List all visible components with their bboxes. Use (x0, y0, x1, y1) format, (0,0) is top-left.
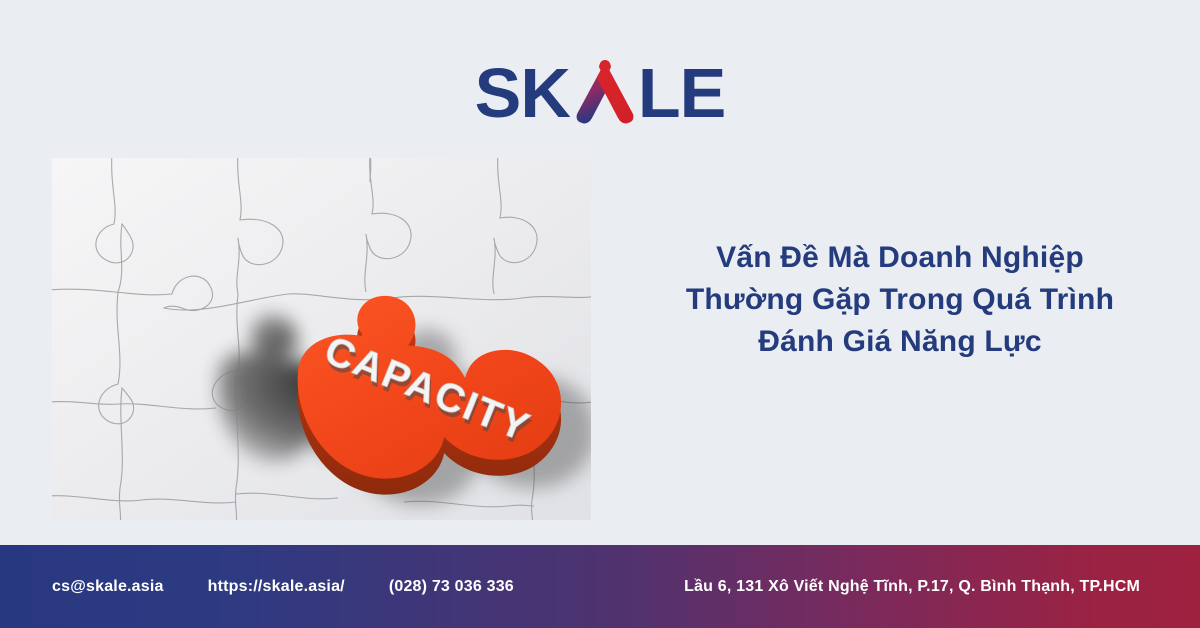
footer-phone[interactable]: (028) 73 036 336 (389, 578, 514, 596)
logo-text-le: LE (638, 56, 725, 130)
contact-footer-items: cs@skale.asia https://skale.asia/ (028) … (0, 578, 1200, 596)
chevron-a-mark-icon (568, 56, 642, 130)
footer-email[interactable]: cs@skale.asia (52, 578, 164, 596)
page-title-line-3: Đánh Giá Năng Lực (686, 321, 1114, 363)
page-title: Vấn Đề Mà Doanh Nghiệp Thường Gặp Trong … (640, 210, 1160, 390)
page-title-line-1: Vấn Đề Mà Doanh Nghiệp (686, 237, 1114, 279)
page-title-line-2: Thường Gặp Trong Quá Trình (686, 279, 1114, 321)
logo-lockup: SK (475, 56, 726, 130)
page-title-text: Vấn Đề Mà Doanh Nghiệp Thường Gặp Trong … (686, 237, 1114, 363)
footer-website-link[interactable]: https://skale.asia/ (208, 578, 345, 596)
puzzle-illustration: CAPACITY CAPACITY (52, 158, 591, 520)
footer-address: Lầu 6, 131 Xô Viết Nghệ Tĩnh, P.17, Q. B… (684, 578, 1140, 596)
brand-logo[interactable]: SK (0, 56, 1200, 130)
jigsaw-puzzle-capacity-image: CAPACITY CAPACITY (52, 158, 591, 520)
contact-footer-bar: cs@skale.asia https://skale.asia/ (028) … (0, 545, 1200, 628)
banner-canvas: SK (0, 0, 1200, 628)
logo-text-sk: SK (475, 56, 570, 130)
